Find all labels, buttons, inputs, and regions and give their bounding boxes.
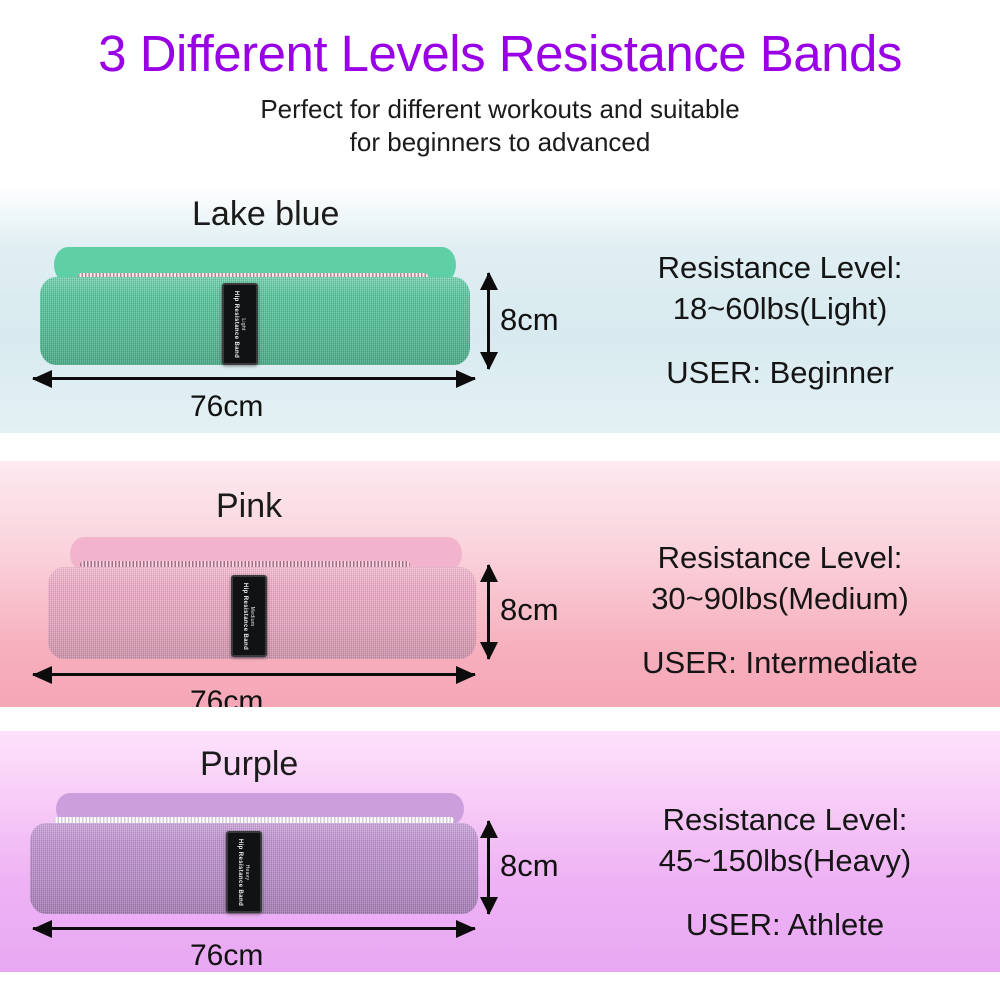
page-title: 3 Different Levels Resistance Bands bbox=[0, 0, 1000, 79]
header: 3 Different Levels Resistance Bands Perf… bbox=[0, 0, 1000, 160]
height-dimension-label: 8cm bbox=[500, 848, 559, 884]
color-name-lake-blue: Lake blue bbox=[192, 195, 339, 234]
height-dimension-arrow bbox=[487, 565, 490, 659]
section-pink: Pink Medium Hip Resistance Band 8cm 76cm… bbox=[0, 461, 1000, 707]
user-label: USER: Beginner bbox=[615, 355, 945, 391]
band-image-lake-blue: Light Hip Resistance Band bbox=[40, 255, 470, 365]
width-dimension-label: 76cm bbox=[190, 390, 263, 424]
color-name-purple: Purple bbox=[200, 745, 298, 784]
spec-block-purple: Resistance Level: 45~150lbs(Heavy) USER:… bbox=[610, 799, 960, 943]
resistance-value: 45~150lbs(Heavy) bbox=[610, 840, 960, 881]
width-dimension-arrow bbox=[33, 377, 475, 380]
band-image-purple: Heavy Hip Resistance Band bbox=[30, 799, 478, 914]
band-logo-tag: Medium Hip Resistance Band bbox=[231, 575, 267, 657]
user-label: USER: Intermediate bbox=[600, 645, 960, 681]
spacer bbox=[615, 329, 945, 355]
section-purple: Purple Heavy Hip Resistance Band 8cm 76c… bbox=[0, 731, 1000, 972]
tag-level-text: Heavy bbox=[245, 864, 251, 880]
band-logo-tag: Heavy Hip Resistance Band bbox=[226, 831, 262, 913]
spacer bbox=[610, 881, 960, 907]
color-name-pink: Pink bbox=[216, 487, 282, 526]
tag-brand-text: Hip Resistance Band bbox=[238, 838, 244, 905]
height-dimension-label: 8cm bbox=[500, 592, 559, 628]
tag-level-text: Medium bbox=[250, 606, 256, 626]
tag-brand-text: Hip Resistance Band bbox=[234, 290, 240, 357]
resistance-title: Resistance Level: bbox=[600, 537, 960, 578]
tag-level-text: Light bbox=[241, 318, 247, 330]
resistance-value: 18~60lbs(Light) bbox=[615, 288, 945, 329]
subtitle: Perfect for different workouts and suita… bbox=[0, 93, 1000, 160]
spec-block-pink: Resistance Level: 30~90lbs(Medium) USER:… bbox=[600, 537, 960, 681]
width-dimension-arrow bbox=[33, 673, 475, 676]
section-lake-blue: Lake blue Light Hip Resistance Band 8c bbox=[0, 185, 1000, 433]
subtitle-line-2: for beginners to advanced bbox=[0, 126, 1000, 159]
resistance-title: Resistance Level: bbox=[615, 247, 945, 288]
spec-block-lake-blue: Resistance Level: 18~60lbs(Light) USER: … bbox=[615, 247, 945, 391]
resistance-value: 30~90lbs(Medium) bbox=[600, 578, 960, 619]
band-logo-tag: Light Hip Resistance Band bbox=[222, 283, 258, 365]
width-dimension-arrow bbox=[33, 927, 475, 930]
height-dimension-arrow bbox=[487, 273, 490, 369]
band-image-pink: Medium Hip Resistance Band bbox=[48, 543, 476, 659]
height-dimension-label: 8cm bbox=[500, 302, 559, 338]
subtitle-line-1: Perfect for different workouts and suita… bbox=[0, 93, 1000, 126]
resistance-title: Resistance Level: bbox=[610, 799, 960, 840]
spacer bbox=[600, 619, 960, 645]
user-label: USER: Athlete bbox=[610, 907, 960, 943]
width-dimension-label: 76cm bbox=[190, 939, 263, 972]
infographic-page: 3 Different Levels Resistance Bands Perf… bbox=[0, 0, 1000, 1000]
height-dimension-arrow bbox=[487, 821, 490, 914]
tag-brand-text: Hip Resistance Band bbox=[243, 582, 249, 649]
width-dimension-label: 76cm bbox=[190, 685, 263, 707]
